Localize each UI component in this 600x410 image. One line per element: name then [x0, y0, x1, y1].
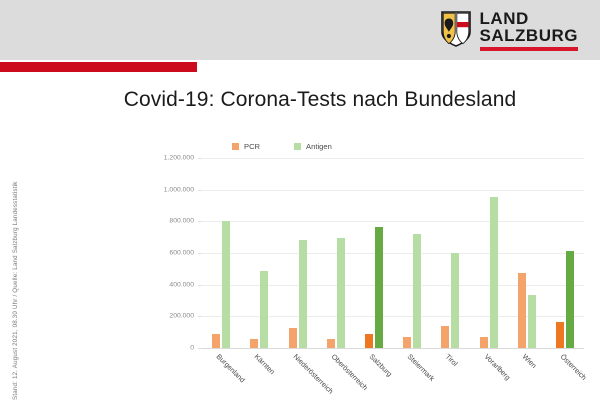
bar-chart: PCRAntigen 0200.000400.000600.000800.000…: [152, 136, 584, 348]
bar-group: [431, 158, 469, 348]
source-note: Stand: 12. August 2021, 08.30 Uhr / Quel…: [12, 140, 19, 400]
bar-pcr[interactable]: [212, 334, 220, 348]
x-label-cell: Burgenland: [202, 350, 240, 410]
bar-antigen[interactable]: [299, 240, 307, 348]
bar-pcr[interactable]: [250, 339, 258, 349]
bar-pcr[interactable]: [480, 337, 488, 348]
chart-legend: PCRAntigen: [232, 142, 332, 151]
logo-line-salzburg: SALZBURG: [480, 27, 578, 44]
logo-underline: [480, 47, 578, 51]
x-label-cell: Tirol: [431, 350, 469, 410]
bar-group: [355, 158, 393, 348]
bar-antigen[interactable]: [375, 227, 383, 348]
bar-antigen[interactable]: [451, 253, 459, 348]
bar-antigen[interactable]: [413, 234, 421, 348]
y-tick-label: 1.000.000: [164, 186, 194, 193]
legend-swatch-antigen: [294, 143, 301, 150]
x-tick-label: Tirol: [444, 352, 460, 368]
gridline: [202, 348, 584, 349]
x-axis-labels: BurgenlandKärntenNiederösterreichOberöst…: [202, 350, 584, 410]
y-tick-mark: [198, 348, 202, 349]
bar-antigen[interactable]: [490, 197, 498, 348]
x-label-cell: Oberösterreich: [317, 350, 355, 410]
legend-swatch-pcr: [232, 143, 239, 150]
bar-pcr[interactable]: [556, 322, 564, 348]
x-label-cell: Kärnten: [240, 350, 278, 410]
bar-group: [546, 158, 584, 348]
y-tick-label: 1.200.000: [164, 155, 194, 162]
y-tick-label: 400.000: [169, 281, 194, 288]
legend-label-antigen: Antigen: [306, 142, 332, 151]
bar-antigen[interactable]: [528, 295, 536, 348]
plot-wrap: 0200.000400.000600.000800.0001.000.0001.…: [152, 158, 584, 348]
legend-item-pcr[interactable]: PCR: [232, 142, 260, 151]
logo-line-land: LAND: [480, 10, 578, 27]
legend-item-antigen[interactable]: Antigen: [294, 142, 332, 151]
bar-group: [202, 158, 240, 348]
bar-group: [317, 158, 355, 348]
bar-group: [508, 158, 546, 348]
bar-group: [278, 158, 316, 348]
logo-wordmark: LAND SALZBURG: [480, 10, 578, 51]
bar-groups: [202, 158, 584, 348]
x-label-cell: Niederösterreich: [278, 350, 316, 410]
bar-antigen[interactable]: [566, 251, 574, 348]
y-tick-label: 600.000: [169, 250, 194, 257]
brand-logo: LAND SALZBURG: [440, 10, 578, 51]
bar-antigen[interactable]: [260, 271, 268, 348]
x-label-cell: Steiermark: [393, 350, 431, 410]
bar-pcr[interactable]: [327, 339, 335, 348]
bar-pcr[interactable]: [403, 337, 411, 348]
bar-group: [393, 158, 431, 348]
x-tick-label: Wien: [520, 352, 538, 370]
salzburg-coat-of-arms-icon: [440, 10, 472, 48]
bar-antigen[interactable]: [337, 238, 345, 348]
x-tick-label: Salzburg: [368, 352, 394, 378]
x-label-cell: Vorarlberg: [469, 350, 507, 410]
bar-pcr[interactable]: [365, 334, 373, 348]
bar-group: [240, 158, 278, 348]
y-tick-label: 200.000: [169, 313, 194, 320]
bar-group: [469, 158, 507, 348]
y-tick-label: 800.000: [169, 218, 194, 225]
y-tick-label: 0: [190, 345, 194, 352]
x-tick-label: Kärnten: [253, 352, 277, 376]
x-tick-label: Österreich: [559, 352, 589, 382]
bar-antigen[interactable]: [222, 221, 230, 348]
x-label-cell: Wien: [508, 350, 546, 410]
bar-pcr[interactable]: [518, 273, 526, 348]
page-title: Covid-19: Corona-Tests nach Bundesland: [0, 88, 600, 112]
x-label-cell: Österreich: [546, 350, 584, 410]
accent-red-bar: [0, 62, 197, 72]
y-axis-labels: 0200.000400.000600.000800.0001.000.0001.…: [152, 158, 198, 348]
bar-pcr[interactable]: [289, 328, 297, 348]
bar-pcr[interactable]: [441, 326, 449, 348]
plot-area: [202, 158, 584, 348]
legend-label-pcr: PCR: [244, 142, 260, 151]
x-label-cell: Salzburg: [355, 350, 393, 410]
